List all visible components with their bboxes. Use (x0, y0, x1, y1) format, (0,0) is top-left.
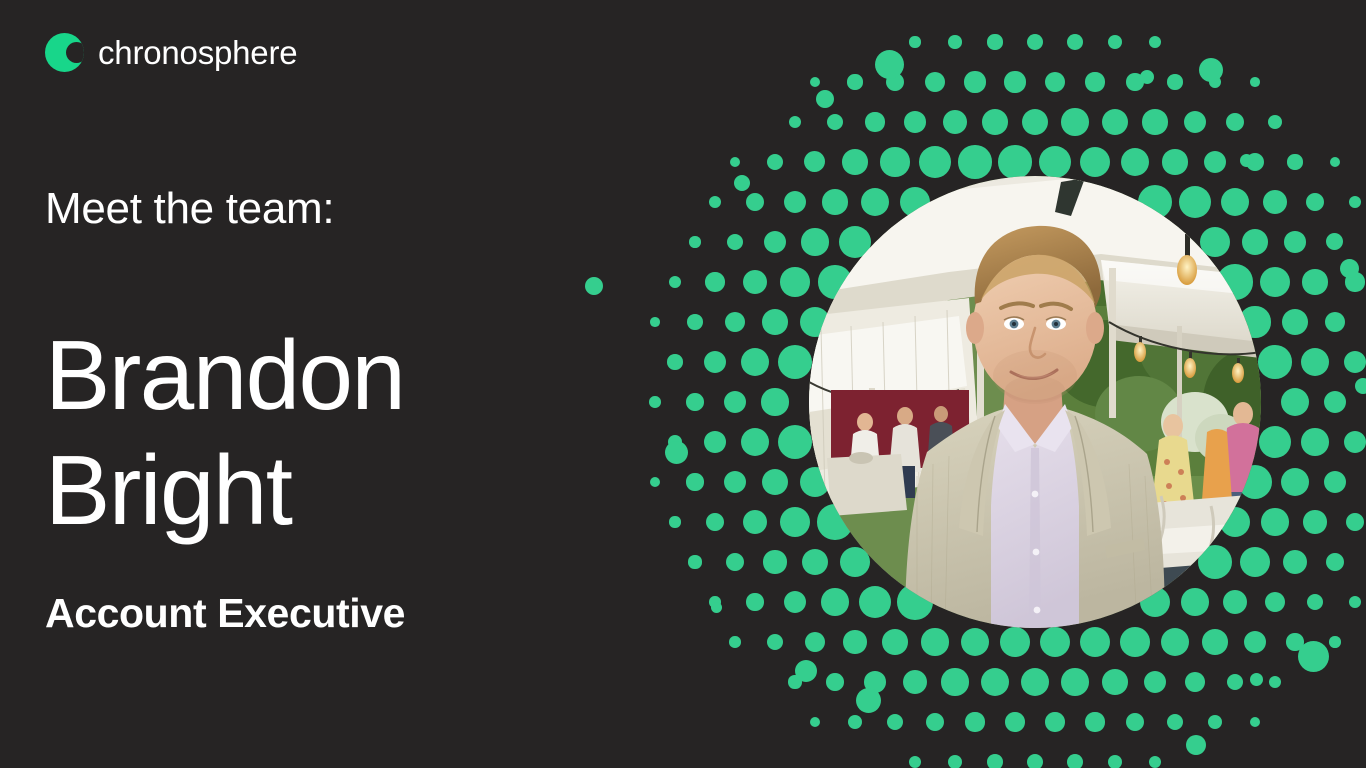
halo-dot (1204, 151, 1226, 173)
halo-dot (982, 109, 1008, 135)
halo-dot (704, 351, 726, 373)
halo-dot (687, 314, 703, 330)
halo-dot (1265, 592, 1286, 613)
halo-dot (649, 396, 661, 408)
halo-scatter-dot (1355, 378, 1366, 394)
halo-dot (1282, 309, 1308, 335)
halo-dot (1306, 193, 1324, 211)
halo-dot (987, 754, 1003, 768)
halo-dot (689, 236, 700, 247)
halo-dot (1325, 312, 1346, 333)
halo-dot (763, 550, 786, 573)
halo-dot (965, 712, 984, 731)
halo-dot (827, 114, 843, 130)
halo-dot (669, 516, 680, 527)
halo-dot (1181, 588, 1209, 616)
halo-dot (1269, 676, 1282, 689)
halo-dot (805, 632, 826, 653)
halo-dot (784, 191, 806, 213)
halo-dot (919, 146, 951, 178)
halo-scatter-dot (816, 90, 834, 108)
halo-dot (864, 671, 885, 692)
halo-dot (1040, 627, 1070, 657)
halo-dot (1161, 628, 1189, 656)
halo-dot (1284, 231, 1305, 252)
person-job-title: Account Executive (45, 592, 405, 635)
halo-dot (1244, 631, 1266, 653)
halo-dot (1000, 627, 1030, 657)
halo-scatter-dot (585, 277, 603, 295)
halo-dot (743, 270, 768, 295)
halo-dot (1085, 72, 1104, 91)
halo-dot (727, 234, 744, 251)
halo-dot (743, 510, 767, 534)
halo-dot (1142, 109, 1167, 134)
halo-dot (1121, 148, 1149, 176)
halo-dot (1149, 756, 1161, 768)
halo-dot (1263, 190, 1287, 214)
halo-dot (762, 469, 788, 495)
halo-dot (1067, 34, 1083, 50)
halo-dot (1167, 74, 1182, 89)
halo-dot (1021, 668, 1050, 697)
halo-dot (1102, 669, 1128, 695)
halo-dot (1283, 550, 1307, 574)
halo-dot (789, 116, 802, 129)
halo-dot (1227, 674, 1243, 690)
halo-dot (1221, 188, 1249, 216)
halo-dot (1250, 77, 1260, 87)
halo-dot (909, 36, 920, 47)
halo-dot (688, 555, 701, 568)
halo-dot (926, 713, 944, 731)
halo-dot (1045, 72, 1065, 92)
halo-dot (1120, 627, 1150, 657)
halo-dot (762, 309, 788, 335)
halo-dot (730, 157, 740, 167)
halo-dot (746, 593, 763, 610)
halo-dot (1004, 71, 1025, 92)
halo-dot (882, 629, 908, 655)
halo-dot (1039, 146, 1071, 178)
halo-scatter-dot (875, 50, 904, 79)
halo-dot (650, 477, 660, 487)
halo-dot (1022, 109, 1049, 136)
halo-dot (904, 111, 926, 133)
halo-dot (764, 231, 786, 253)
halo-dot (1067, 754, 1083, 768)
halo-dot (847, 74, 862, 89)
halo-dot (706, 513, 724, 531)
halo-dot (741, 428, 769, 456)
halo-dot (987, 34, 1002, 49)
halo-scatter-dot (734, 175, 750, 191)
halo-dot (784, 591, 807, 614)
halo-dot (780, 507, 810, 537)
halo-dot (859, 586, 891, 618)
chronosphere-crescent-mark-icon (45, 33, 84, 72)
halo-dot (1349, 196, 1361, 208)
halo-dot (1259, 426, 1291, 458)
halo-dot (669, 276, 682, 289)
halo-dot (1330, 157, 1341, 168)
halo-dot (1080, 627, 1110, 657)
halo-scatter-dot (1140, 70, 1154, 84)
halo-dot (961, 628, 990, 657)
halo-dot (709, 596, 721, 608)
halo-dot (1226, 113, 1245, 132)
halo-dot (1223, 590, 1247, 614)
halo-scatter-dot (795, 660, 817, 682)
halo-scatter-dot (1250, 673, 1263, 686)
halo-dot (1240, 547, 1270, 577)
halo-dot (1045, 712, 1064, 731)
halo-dot (1185, 672, 1205, 692)
portrait-photo (809, 176, 1261, 628)
halo-dot (1108, 755, 1122, 768)
halo-dot (741, 348, 769, 376)
halo-dot (724, 391, 747, 414)
halo-dot (780, 267, 809, 296)
halo-dot (726, 553, 745, 572)
person-name: Brandon Bright (45, 318, 404, 547)
halo-scatter-dot (1199, 58, 1223, 82)
eyebrow-label: Meet the team: (45, 186, 334, 232)
halo-dot (964, 71, 985, 92)
halo-dot (725, 312, 746, 333)
halo-scatter-dot (665, 441, 688, 464)
halo-dot (958, 145, 991, 178)
halo-dot (1301, 348, 1329, 376)
halo-dot (761, 388, 788, 415)
halo-dot (1307, 594, 1324, 611)
halo-dot (826, 673, 844, 691)
halo-dot (943, 110, 967, 134)
halo-dot (686, 473, 703, 490)
halo-dot (822, 189, 847, 214)
halo-dot (1326, 553, 1345, 572)
halo-dot (1287, 154, 1302, 169)
halo-dot (686, 393, 704, 411)
halo-scatter-dot (1240, 154, 1253, 167)
halo-dot (1346, 513, 1365, 532)
halo-dot (1027, 754, 1043, 768)
halo-dot (1144, 671, 1167, 694)
halo-dot (1303, 510, 1326, 533)
halo-dot (1324, 471, 1346, 493)
halo-dot (1329, 636, 1341, 648)
halo-dot (804, 151, 825, 172)
halo-dot (1126, 713, 1144, 731)
halo-dot (1268, 115, 1282, 129)
halo-dot (886, 73, 904, 91)
halo-dot (848, 715, 862, 729)
halo-dot (1208, 715, 1222, 729)
halo-dot (981, 668, 1009, 696)
halo-scatter-dot (1298, 641, 1329, 672)
halo-dot (1260, 267, 1291, 298)
halo-dot (667, 354, 683, 370)
halo-dot (704, 431, 726, 453)
halo-dot (1179, 186, 1211, 218)
halo-dot (810, 77, 821, 88)
halo-dot (865, 112, 884, 131)
halo-dot (1202, 629, 1228, 655)
halo-dot (810, 717, 821, 728)
halo-dot (1286, 633, 1303, 650)
halo-dot (767, 634, 784, 651)
halo-dot (1027, 34, 1043, 50)
halo-dot (802, 549, 829, 576)
halo-dot (746, 193, 764, 211)
halo-dot (1281, 388, 1309, 416)
halo-dot (1126, 73, 1143, 90)
halo-dot (1108, 35, 1123, 50)
brand-wordmark: chronosphere (98, 36, 297, 69)
halo-dot (925, 72, 945, 92)
halo-dot (948, 35, 962, 49)
halo-dot (709, 196, 722, 209)
halo-dot (1344, 351, 1366, 373)
brand-logo: chronosphere (45, 33, 297, 72)
halo-dot (1061, 108, 1088, 135)
halo-dot (1209, 76, 1222, 89)
halo-dot (668, 435, 683, 450)
halo-dot (1167, 714, 1184, 731)
halo-dot (1261, 508, 1288, 535)
halo-dot (801, 228, 828, 255)
halo-dot (941, 668, 968, 695)
halo-dot (1162, 149, 1187, 174)
halo-dot (767, 154, 783, 170)
halo-dot (843, 630, 866, 653)
halo-dot (1085, 712, 1104, 731)
halo-scatter-dot (1340, 259, 1359, 278)
halo-dot (1149, 36, 1162, 49)
halo-dot (861, 188, 889, 216)
halo-dot (1005, 712, 1024, 731)
halo-dot (842, 149, 867, 174)
halo-dot (880, 147, 909, 176)
halo-dot (948, 755, 962, 768)
halo-dot (1184, 111, 1206, 133)
halo-dot (903, 670, 928, 695)
halo-dot (921, 628, 948, 655)
halo-dot (778, 345, 812, 379)
halo-dot (1250, 717, 1261, 728)
halo-scatter-dot (856, 688, 881, 713)
halo-dot (705, 272, 724, 291)
halo-dot (1301, 428, 1329, 456)
halo-dot (1324, 391, 1346, 413)
halo-dot (1344, 431, 1366, 453)
halo-dot (788, 675, 801, 688)
halo-dot (1326, 233, 1343, 250)
halo-dot (1345, 272, 1364, 291)
halo-dot (998, 145, 1031, 178)
halo-dot (1242, 229, 1268, 255)
halo-dot (650, 317, 660, 327)
halo-dot (724, 471, 746, 493)
halo-dot (1281, 468, 1309, 496)
halo-dot (1349, 596, 1361, 608)
halo-dot (778, 425, 812, 459)
halo-dot (1102, 109, 1129, 136)
halo-scatter-dot (711, 602, 722, 613)
halo-dot (1080, 147, 1110, 177)
halo-dot (821, 588, 849, 616)
halo-dot (909, 756, 921, 768)
halo-dot (1302, 269, 1327, 294)
halo-dot (1246, 153, 1265, 172)
halo-dot (729, 636, 741, 648)
halo-dot (1061, 668, 1089, 696)
slide-canvas: chronosphere Meet the team: Brandon Brig… (0, 0, 1366, 768)
halo-scatter-dot (1186, 735, 1206, 755)
halo-dot (887, 714, 904, 731)
halo-dot (1258, 345, 1291, 378)
